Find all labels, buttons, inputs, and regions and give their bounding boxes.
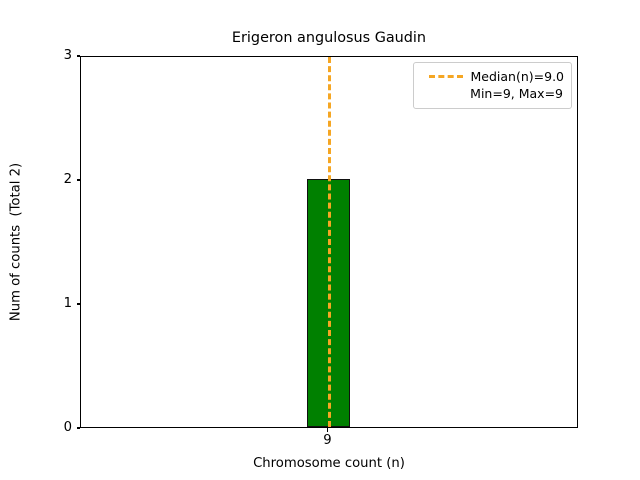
legend-dashed-line-icon <box>429 75 463 78</box>
legend-item-minmax: Min=9, Max=9 <box>421 85 564 102</box>
y-tick-label-2: 2 <box>64 173 72 186</box>
median-line <box>328 57 331 427</box>
chart-title: Erigeron angulosus Gaudin <box>80 30 578 47</box>
y-axis-label: Num of counts (Total 2) <box>9 163 24 321</box>
x-axis-label: Chromosome count (n) <box>80 456 578 471</box>
legend-label-minmax: Min=9, Max=9 <box>470 85 563 102</box>
x-tick-mark-9 <box>327 428 328 432</box>
y-tick-label-3: 3 <box>64 49 72 62</box>
y-axis-label-container: Num of counts (Total 2) <box>0 56 32 428</box>
y-tick-label-1: 1 <box>64 297 72 310</box>
chart-figure: Erigeron angulosus Gaudin Num of counts … <box>0 0 640 480</box>
legend-item-median: Median(n)=9.0 <box>421 68 564 85</box>
y-tick-label-0: 0 <box>64 421 72 434</box>
legend-label-median: Median(n)=9.0 <box>471 68 565 85</box>
legend: Median(n)=9.0 Min=9, Max=9 <box>413 62 572 109</box>
x-tick-label-9: 9 <box>323 434 331 448</box>
plot-area <box>80 56 578 428</box>
